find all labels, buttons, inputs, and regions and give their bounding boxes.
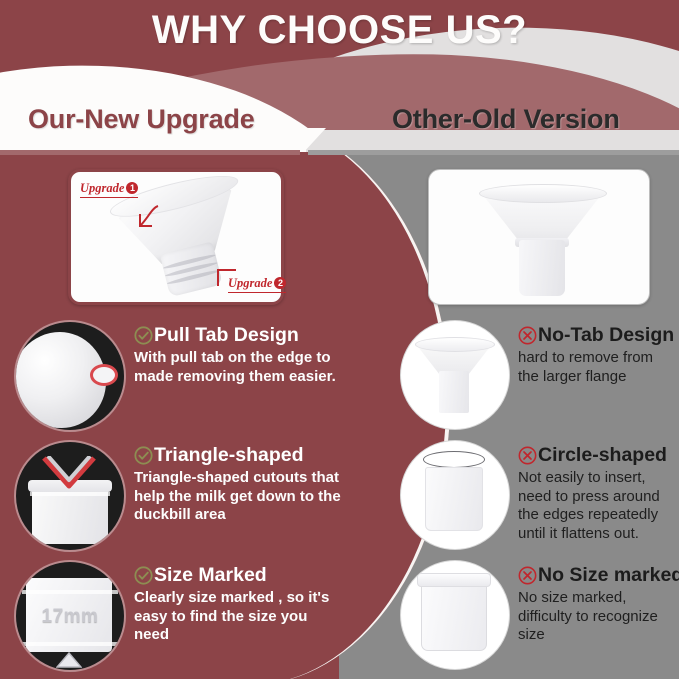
size-label: 17mm: [16, 606, 124, 628]
feature-title: Triangle-shaped: [154, 444, 304, 466]
feature-description: Not easily to insert, need to press arou…: [518, 469, 678, 543]
right-hero-card: [428, 169, 650, 305]
feature-text-block: No Size marked No size marked, difficult…: [518, 564, 678, 645]
feature-heading: No-Tab Design: [518, 324, 678, 346]
size-marking-closeup-icon: 17mm: [14, 560, 126, 672]
cylinder-shape: [425, 467, 483, 531]
upgrade-2-badge: 2: [274, 277, 286, 289]
feature-text-block: Size Marked Clearly size marked , so it'…: [134, 564, 344, 645]
funnel-neck-shape: [439, 371, 469, 413]
check-circle-icon: [134, 446, 153, 465]
funnel-rim-shape: [415, 337, 495, 352]
straight-rim-shape: [479, 184, 607, 203]
upgrade-1-label: Upgrade: [80, 181, 124, 195]
feature-heading: Size Marked: [134, 564, 344, 586]
infographic-root: WHY CHOOSE US? Our-New Upgrade Other-Old…: [0, 0, 679, 679]
feature-text-block: No-Tab Design hard to remove from the la…: [518, 324, 678, 386]
x-circle-icon: [518, 446, 537, 465]
list-item: Triangle-shaped Triangle-shaped cutouts …: [14, 438, 344, 556]
page-title: WHY CHOOSE US?: [0, 8, 679, 53]
feature-heading: No Size marked: [518, 564, 678, 586]
circle-cutout-cylinder-icon: [400, 440, 510, 550]
straight-neck-shape: [519, 240, 565, 296]
left-column-heading: Our-New Upgrade: [28, 104, 255, 135]
check-circle-icon: [134, 566, 153, 585]
feature-title: No-Tab Design: [538, 324, 674, 346]
list-item: No-Tab Design hard to remove from the la…: [400, 318, 676, 436]
funnel-shape: [415, 337, 493, 413]
upgrade-2-callout: Upgrade2: [228, 276, 286, 293]
triangle-cutout-closeup-icon: [14, 440, 126, 552]
block-line-bottom: [22, 642, 118, 646]
feature-title: Size Marked: [154, 564, 267, 586]
x-circle-icon: [518, 326, 537, 345]
x-circle-icon: [518, 566, 537, 585]
feature-title: Circle-shaped: [538, 444, 667, 466]
cylinder-lip-shape: [417, 573, 491, 587]
feature-title: No Size marked: [538, 564, 679, 586]
feature-title: Pull Tab Design: [154, 324, 299, 346]
list-item: Pull Tab Design With pull tab on the edg…: [14, 318, 344, 436]
breast-pump-flange-straight-icon: [479, 184, 605, 296]
feature-description: Clearly size marked , so it's easy to fi…: [134, 589, 344, 645]
flange-pull-tab-closeup-icon: [14, 320, 126, 432]
list-item: No Size marked No size marked, difficult…: [400, 558, 676, 676]
feature-description: Triangle-shaped cutouts that help the mi…: [134, 469, 344, 525]
upgrade-1-badge: 1: [126, 182, 138, 194]
right-accent-strip: [308, 150, 679, 155]
feature-heading: Circle-shaped: [518, 444, 678, 466]
feature-text-block: Circle-shaped Not easily to insert, need…: [518, 444, 678, 543]
cylinder-line: [30, 492, 110, 496]
block-line-top: [22, 590, 118, 594]
feature-description: With pull tab on the edge to made removi…: [134, 349, 344, 386]
upgrade-1-callout: Upgrade1: [80, 181, 138, 198]
left-accent-strip: [0, 150, 300, 155]
plain-funnel-icon: [400, 320, 510, 430]
feature-text-block: Pull Tab Design With pull tab on the edg…: [134, 324, 344, 386]
check-circle-icon: [134, 326, 153, 345]
triangle-marker-icon: [56, 652, 82, 668]
list-item: Circle-shaped Not easily to insert, need…: [400, 438, 676, 556]
feature-description: hard to remove from the larger flange: [518, 349, 678, 386]
upgrade-2-label: Upgrade: [228, 276, 272, 290]
feature-heading: Triangle-shaped: [134, 444, 344, 466]
right-column-heading: Other-Old Version: [392, 104, 620, 135]
list-item: 17mm Size Marked Clearly size marked , s…: [14, 558, 344, 676]
triangle-cutout-shape: [40, 456, 98, 490]
feature-description: No size marked, difficulty to recognize …: [518, 589, 678, 645]
circle-outline-shape: [423, 451, 485, 468]
unmarked-cylinder-icon: [400, 560, 510, 670]
feature-heading: Pull Tab Design: [134, 324, 344, 346]
feature-text-block: Triangle-shaped Triangle-shaped cutouts …: [134, 444, 344, 525]
pull-tab-shape: [90, 364, 118, 386]
